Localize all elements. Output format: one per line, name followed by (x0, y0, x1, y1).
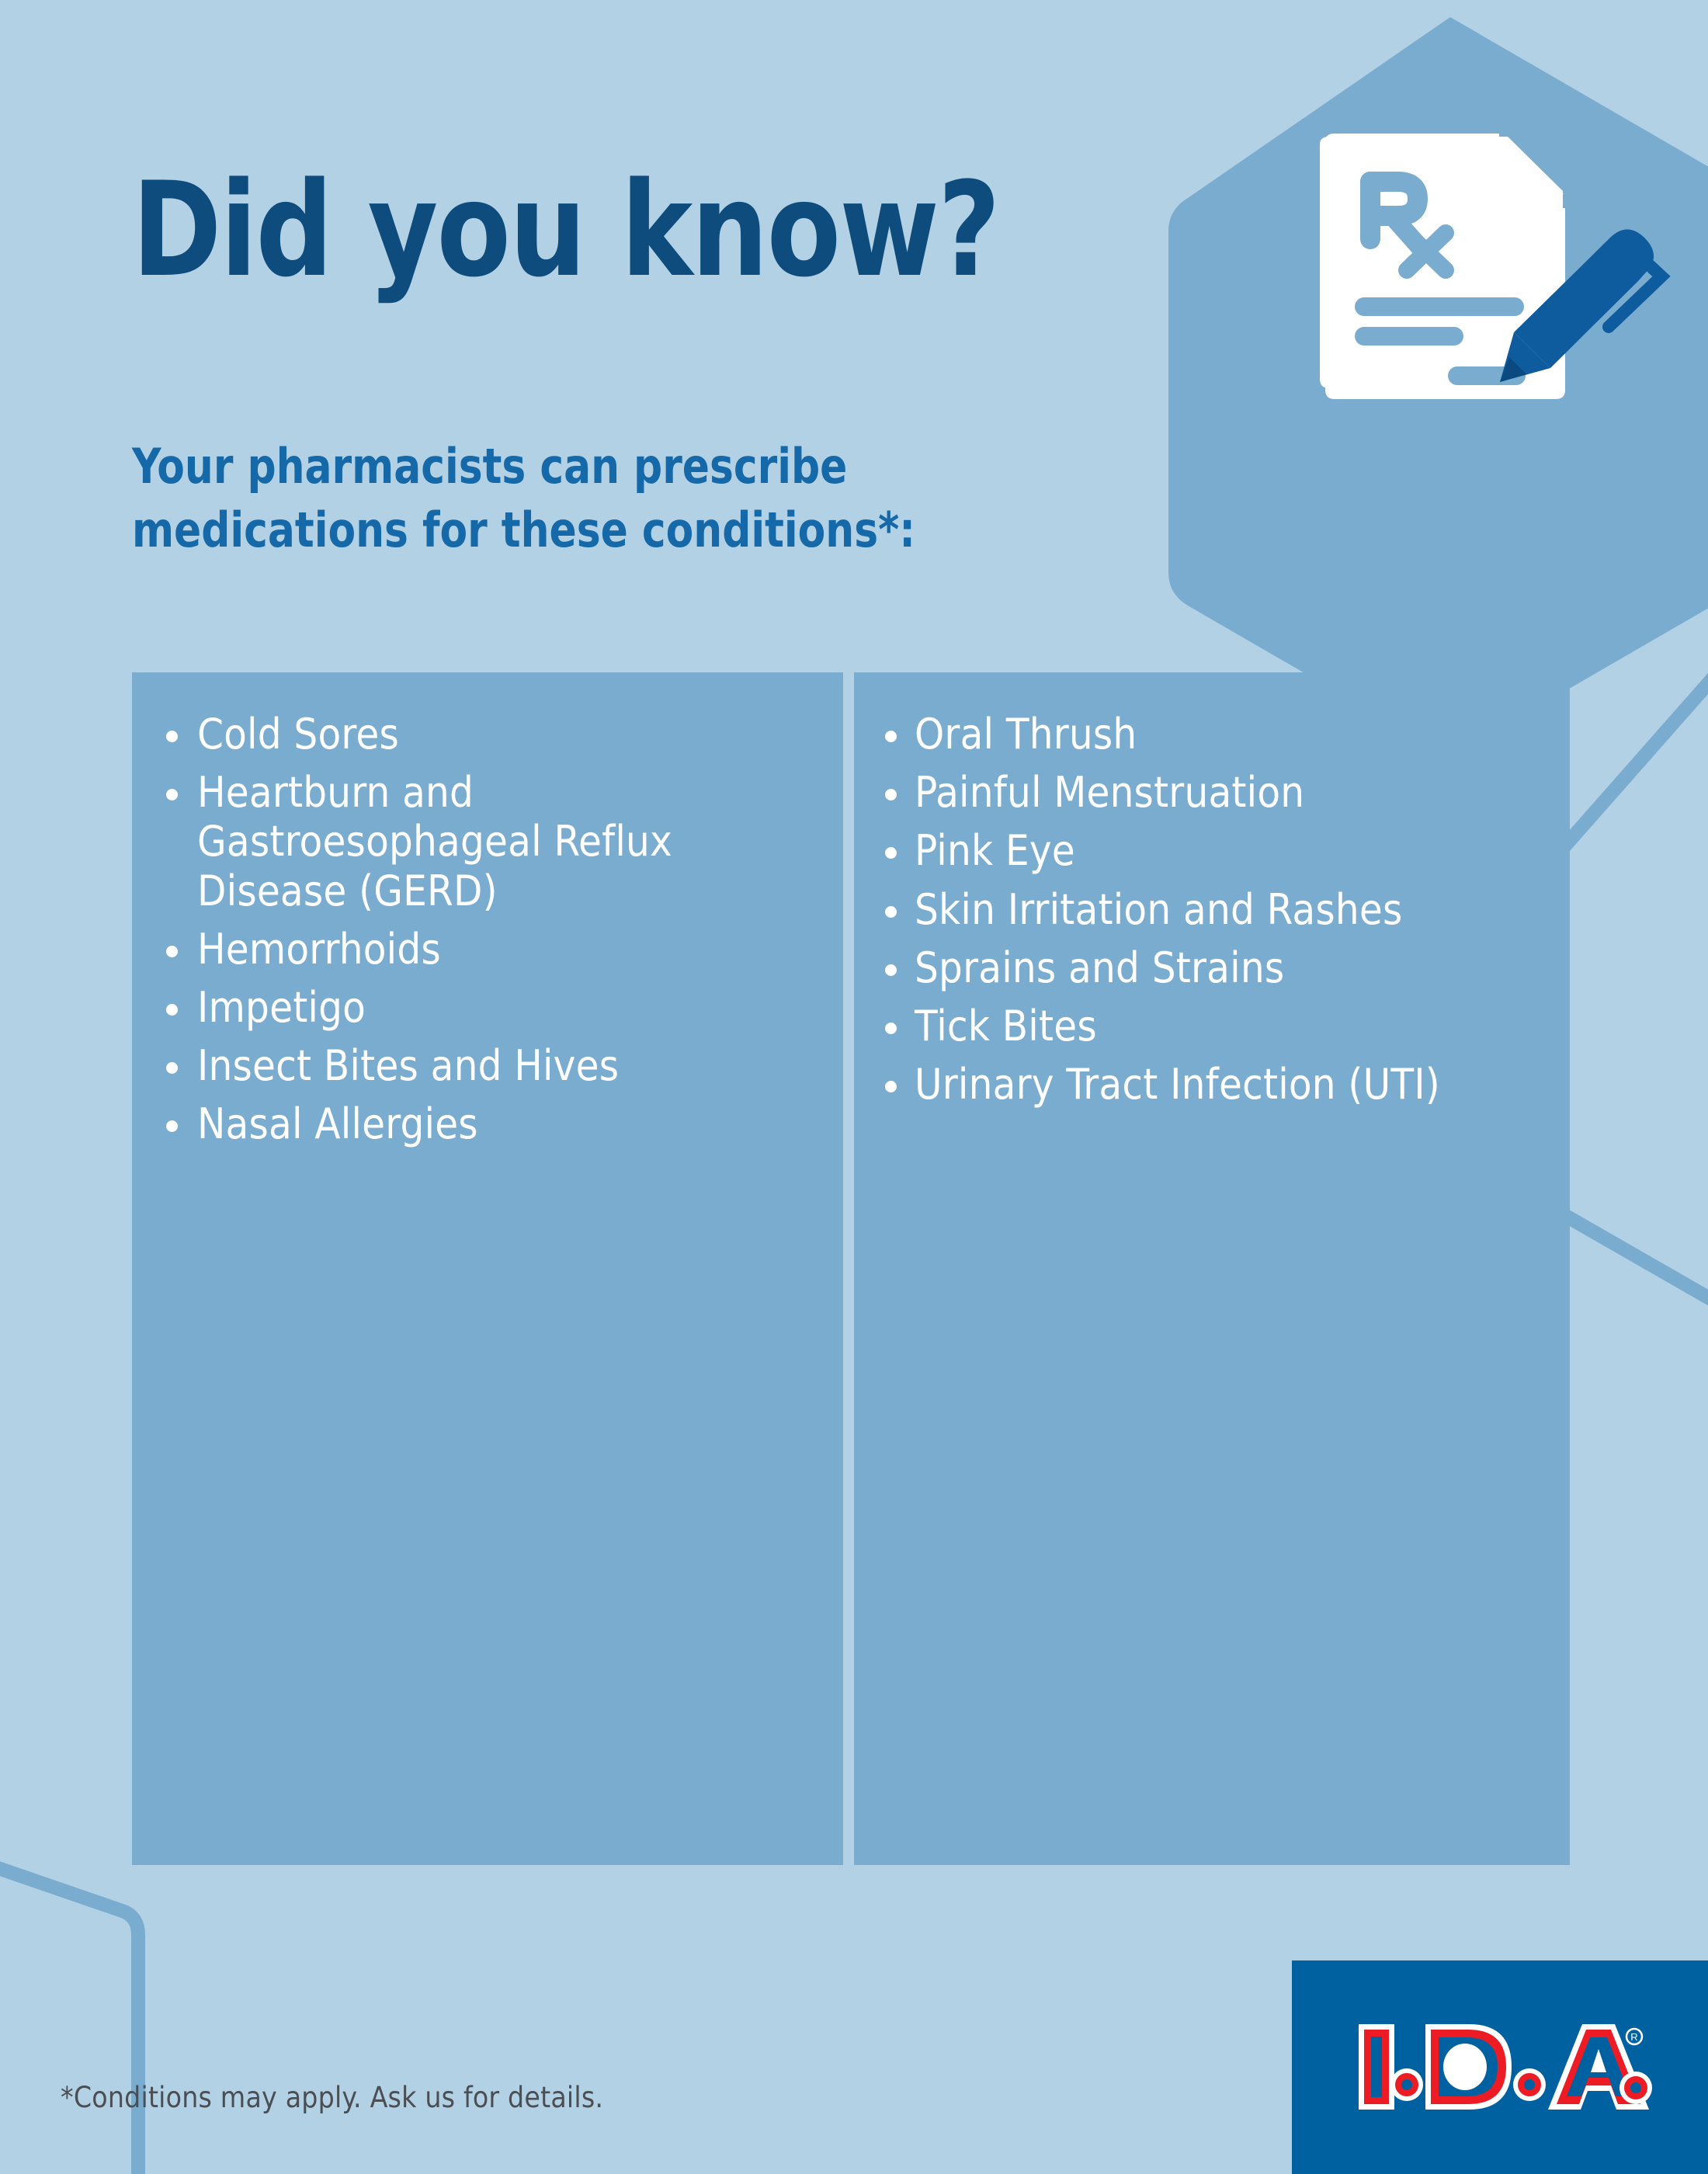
list-item: Sprains and Strains (880, 943, 1543, 992)
conditions-panels: Cold Sores Heartburn and Gastroesophagea… (132, 672, 1570, 1865)
list-item: Insect Bites and Hives (158, 1041, 817, 1090)
conditions-column-right: Oral Thrush Painful Menstruation Pink Ey… (854, 672, 1570, 1865)
list-item: Painful Menstruation (880, 768, 1543, 817)
document-line-2 (1355, 327, 1463, 346)
conditions-list-left: Cold Sores Heartburn and Gastroesophagea… (158, 710, 817, 1148)
list-item: Pink Eye (880, 826, 1543, 875)
list-item: Impetigo (158, 983, 817, 1032)
poster-root: Did you know? Your pharmacists can presc… (0, 0, 1708, 2174)
rx-symbol (1360, 172, 1446, 270)
svg-text:R: R (1630, 2031, 1637, 2043)
list-item: Hemorrhoids (158, 925, 817, 974)
list-item: Urinary Tract Infection (UTI) (880, 1060, 1543, 1109)
conditions-column-left: Cold Sores Heartburn and Gastroesophagea… (132, 672, 843, 1865)
document-signature-line (1448, 366, 1526, 385)
hexagon-outline-icon-bottom (0, 1786, 138, 2174)
list-item: Oral Thrush (880, 710, 1543, 759)
list-item: Cold Sores (158, 710, 817, 759)
prescription-document-icon (1320, 134, 1565, 399)
list-item: Tick Bites (880, 1002, 1543, 1051)
list-item: Skin Irritation and Rashes (880, 885, 1543, 934)
document-line-1 (1355, 297, 1524, 316)
ida-logo-mark: R (1345, 2013, 1655, 2122)
list-item: Heartburn and Gastroesophageal Reflux Di… (158, 768, 817, 915)
footnote-text: *Conditions may apply. Ask us for detail… (61, 2081, 603, 2114)
hexagon-solid-icon (1168, 17, 1708, 753)
list-item: Nasal Allergies (158, 1099, 817, 1148)
conditions-list-right: Oral Thrush Painful Menstruation Pink Ey… (880, 710, 1543, 1109)
page-subtitle-line-2: medications for these conditions*: (132, 498, 1071, 562)
page-title: Did you know? (132, 165, 1047, 295)
page-subtitle: Your pharmacists can prescribe medicatio… (132, 435, 1071, 562)
hexagon-outline-icon-right (1547, 635, 1708, 1310)
pen-icon (1500, 230, 1661, 383)
page-subtitle-line-1: Your pharmacists can prescribe (132, 435, 1071, 498)
ida-pharmacy-logo: R (1292, 1960, 1708, 2174)
